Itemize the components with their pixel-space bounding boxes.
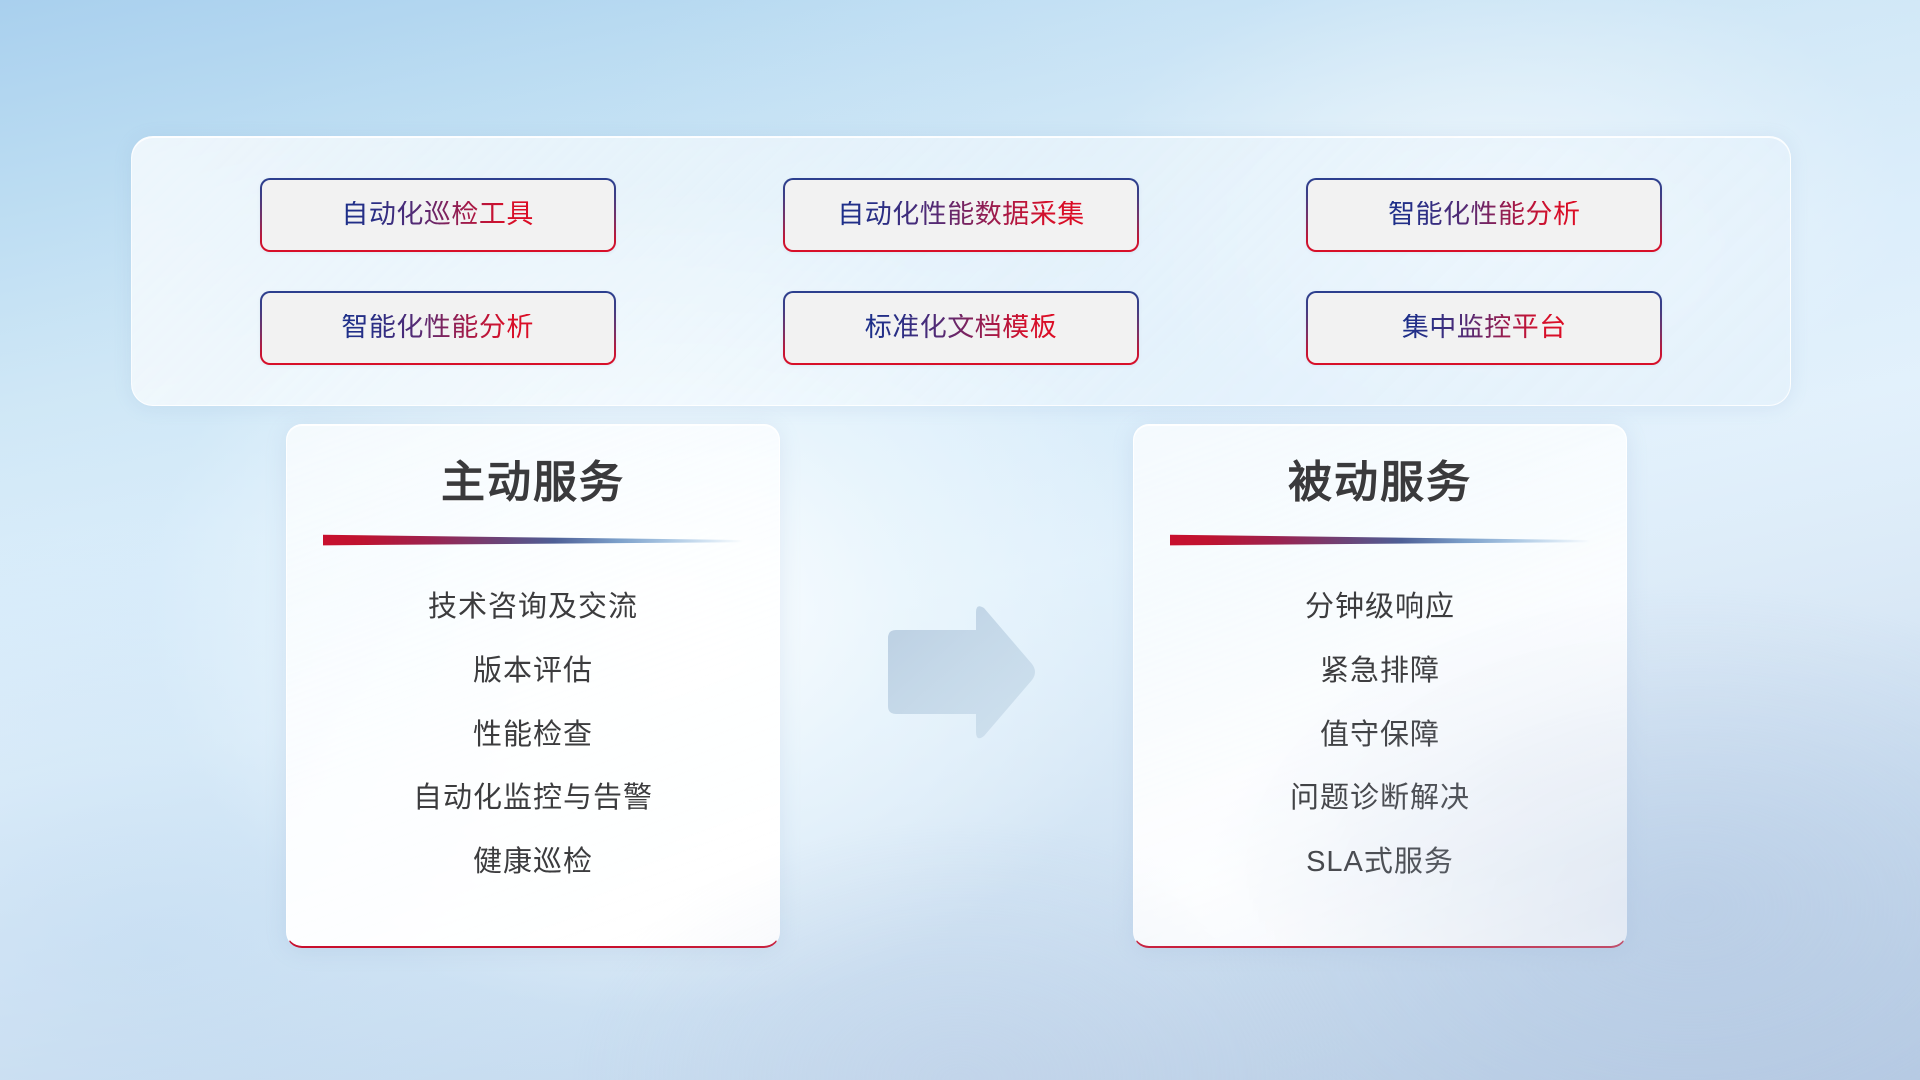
capability-chip-label: 自动化巡检工具	[341, 201, 534, 228]
capability-chip-label: 集中监控平台	[1402, 314, 1567, 341]
capability-chip-4[interactable]: 标准化文档模板	[783, 291, 1139, 365]
slide-canvas: 自动化巡检工具 自动化性能数据采集 智能化性能分析 智能化性能分析 标准化文档模…	[0, 0, 1920, 1080]
list-item: 性能检查	[473, 720, 593, 752]
card-item-list: 技术咨询及交流 版本评估 性能检查 自动化监控与告警 健康巡检	[287, 592, 779, 879]
capability-chips-panel: 自动化巡检工具 自动化性能数据采集 智能化性能分析 智能化性能分析 标准化文档模…	[131, 136, 1791, 406]
capability-chip-grid: 自动化巡检工具 自动化性能数据采集 智能化性能分析 智能化性能分析 标准化文档模…	[132, 137, 1790, 405]
service-card-passive: 被动服务 分钟级响应 紧急排障 值守保障 问题诊断解决 SLA式服务	[1133, 424, 1627, 948]
capability-chip-5[interactable]: 集中监控平台	[1306, 291, 1662, 365]
card-divider	[1170, 534, 1590, 546]
capability-chip-2[interactable]: 智能化性能分析	[1306, 178, 1662, 252]
capability-chip-0[interactable]: 自动化巡检工具	[260, 178, 616, 252]
capability-chip-label: 自动化性能数据采集	[837, 201, 1085, 228]
divider-gradient-wedge	[323, 534, 743, 546]
card-divider	[323, 534, 743, 546]
list-item: 健康巡检	[473, 847, 593, 879]
list-item: 技术咨询及交流	[428, 592, 638, 624]
capability-chip-label: 智能化性能分析	[1388, 201, 1581, 228]
card-item-list: 分钟级响应 紧急排障 值守保障 问题诊断解决 SLA式服务	[1134, 592, 1626, 879]
arrow-right-icon	[880, 602, 1038, 744]
list-item: 版本评估	[473, 656, 593, 688]
divider-gradient-wedge	[1170, 534, 1590, 546]
list-item: SLA式服务	[1306, 847, 1454, 879]
card-title: 主动服务	[287, 457, 779, 510]
capability-chip-1[interactable]: 自动化性能数据采集	[783, 178, 1139, 252]
card-title: 被动服务	[1134, 457, 1626, 510]
capability-chip-3[interactable]: 智能化性能分析	[260, 291, 616, 365]
list-item: 值守保障	[1320, 720, 1440, 752]
service-card-active: 主动服务 技术咨询及交流 版本评估 性能检查 自动化监控与告警 健康巡检	[286, 424, 780, 948]
list-item: 问题诊断解决	[1290, 783, 1470, 815]
capability-chip-label: 智能化性能分析	[341, 314, 534, 341]
list-item: 分钟级响应	[1305, 592, 1455, 624]
capability-chip-label: 标准化文档模板	[865, 314, 1058, 341]
list-item: 自动化监控与告警	[413, 783, 653, 815]
list-item: 紧急排障	[1320, 656, 1440, 688]
